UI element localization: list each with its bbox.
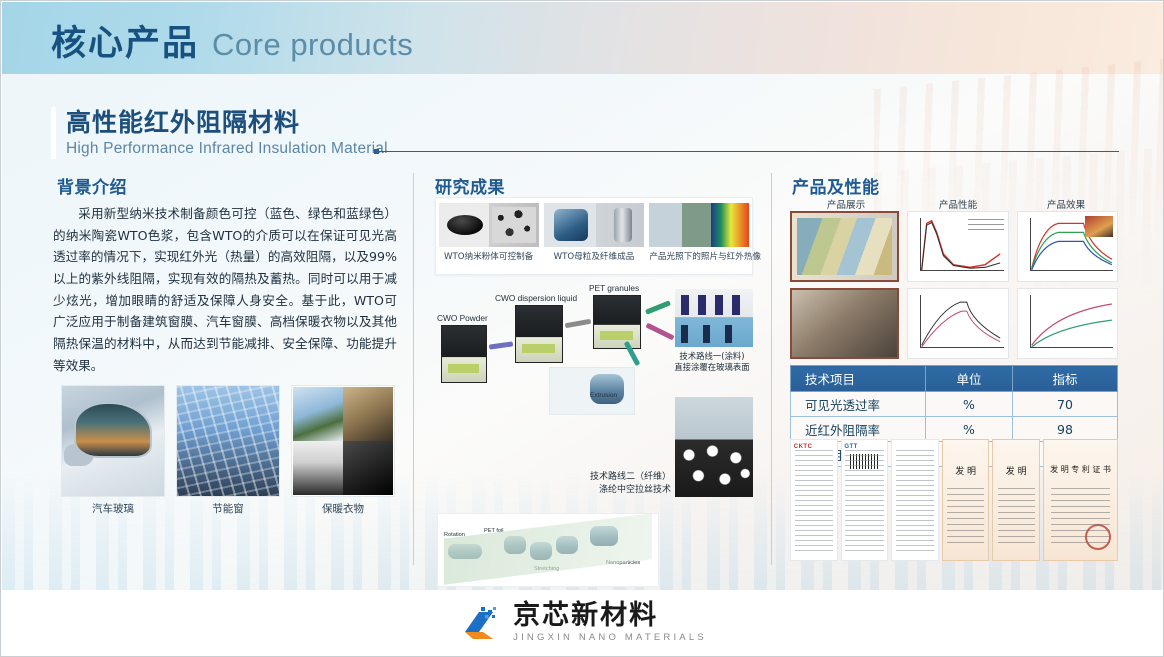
spec-cell-value: 98 [1013,417,1118,442]
route2-label-line2: 涤纶中空拉丝技术 [551,484,671,497]
route3-film-diagram: Rotation PET foil Stretching Nanoparticl… [437,513,659,587]
flow-arrow-2-icon [565,319,591,328]
research-item-caption: WTO纳米粉体可控制备 [439,250,539,262]
flow-label-granules: PET granules [589,283,639,293]
column-products: 产品及性能 产品展示 产品性能 产品效果 [786,173,1119,203]
hollow-fiber-image [675,397,753,497]
chart-curves [1030,295,1114,349]
wto-masterbatch-image [544,203,644,247]
patent-certificate-3: 发 明 专 利 证 书 [1043,439,1118,561]
spec-col-unit: 单位 [926,366,1013,392]
subhead-performance: 产品性能 [902,197,1014,211]
spec-cell-value: 70 [1013,392,1118,417]
page-title: 核心产品 Core products [51,15,413,66]
energy-window-image [176,385,280,497]
flow-label-powder: CWO Powder [437,313,488,323]
table-row: 近红外阻隔率 % 98 [791,417,1118,442]
film-roll-icon [556,536,578,554]
chart-curves [920,295,1004,349]
route1-label: 技术路线一(涂料) 直接涂覆在玻璃表面 [669,351,755,374]
process-flow-diagram: CWO Powder CWO dispersion liquid PET gra… [433,285,755,465]
patent-title: 发 明 专 利 证 书 [1044,464,1117,475]
column-divider-2 [771,173,772,565]
temp-curve-svg [920,295,1004,349]
application-photo-caption: 保暖衣物 [291,501,395,516]
pet-granules-photo [593,295,641,349]
application-photo-row: 汽车玻璃 节能窗 保暖衣物 [61,385,395,516]
film-roll-icon [504,536,526,554]
cwo-dispersion-photo [515,305,563,363]
flow-label-nanoparticles: Nanoparticles [606,560,640,566]
route1-label-line1: 技术路线一(涂料) [669,351,755,362]
official-seal-icon [1085,524,1111,550]
extrusion-photo: Extrusion [549,367,635,415]
extruder-roll-icon [590,374,624,404]
columns-container: 背景介绍 采用新型纳米技术制备颜色可控（蓝色、绿色和蓝绿色）的纳米陶瓷WTO色浆… [51,173,1119,568]
ski-photo-quadrant [293,387,343,441]
spec-col-item: 技术项目 [791,366,926,392]
irradiation-curve-svg [1030,295,1114,349]
gtt-logo-label: GTT [844,444,858,450]
spec-cell-unit: % [926,417,1013,442]
application-photo-caption: 汽车玻璃 [61,501,165,516]
barcode-icon [850,454,879,468]
temperature-curve-chart-image [907,288,1008,359]
insulation-effect-chart-image [1017,211,1118,282]
page-title-en: Core products [212,27,413,63]
brand-name-cn: 京芯新材料 [513,602,707,629]
cwo-powder-photo [441,325,487,383]
flow-arrow-1-icon [489,341,513,349]
spec-cell-item: 近红外阻隔率 [791,417,926,442]
column-background: 背景介绍 采用新型纳米技术制备颜色可控（蓝色、绿色和蓝绿色）的纳米陶瓷WTO色浆… [51,173,399,376]
wto-powder-image [439,203,539,247]
research-item-fiber: WTO母粒及纤维成品 [544,203,644,262]
patent-title: 发 明 [943,464,989,477]
flow-label-rotation: Rotation [444,532,465,538]
products-image-row [790,211,1118,359]
product-performance-group [907,211,1008,359]
research-item-caption: WTO母粒及纤维成品 [544,250,644,262]
section-accent-bar [51,107,56,159]
demo-room-image [790,288,899,359]
glass-swatches-image [790,211,899,282]
route1-photo-group [675,289,753,347]
spec-cell-unit: % [926,392,1013,417]
section-title-en: High Performance Infrared Insulation Mat… [66,140,388,158]
products-subheadings: 产品展示 产品性能 产品效果 [790,197,1118,211]
product-effect-group [1017,211,1118,359]
warm-clothing-image [291,385,395,497]
film-roll-icon [448,544,482,559]
research-heading: 研究成果 [435,173,759,198]
subhead-effect: 产品效果 [1014,197,1118,211]
application-photo-car: 汽车玻璃 [61,385,165,516]
table-row: 可见光透过率 % 70 [791,392,1118,417]
test-report-gtt: GTT [841,439,889,561]
test-report-cktc: CKTC [790,439,838,561]
slide: 核心产品 Core products 高性能红外阻隔材料 High Perfor… [0,0,1164,657]
company-logo-icon [459,606,503,640]
route2-label: 技术路线二（纤维） 涤纶中空拉丝技术 [551,471,671,496]
transmittance-chart-image [907,211,1008,282]
chart-legend [968,219,1004,234]
route2-label-line1: 技术路线二（纤维） [551,471,671,484]
patent-certificate-1: 发 明 [942,439,990,561]
patent-title: 发 明 [993,464,1039,477]
effect-inset-photo [1085,216,1113,237]
flow-label-dispersion: CWO dispersion liquid [495,293,577,303]
background-paragraph: 采用新型纳米技术制备颜色可控（蓝色、绿色和蓝绿色）的纳米陶瓷WTO色浆，包含WT… [53,203,397,376]
column-research: 研究成果 WTO纳米粉体可控制备 WTO母粒及纤维成品 产品光照下的照片与红外热… [429,173,759,203]
footer: 京芯新材料 JINGXIN NANO MATERIALS [2,590,1164,655]
patent-certificate-2: 发 明 [992,439,1040,561]
product-display-group [790,211,899,359]
section-heading: 高性能红外阻隔材料 High Performance Infrared Insu… [51,103,388,158]
film-roll-icon [530,542,552,560]
section-rule [379,151,1119,152]
gloves-photo-quadrant [343,441,393,495]
section-title-cn: 高性能红外阻隔材料 [66,103,388,139]
research-item-caption: 产品光照下的照片与红外热像 [649,250,749,262]
flow-label-pet-foil: PET foil [484,528,503,534]
spec-cell-item: 可见光透过率 [791,392,926,417]
flow-arrow-3-icon [645,300,671,314]
research-results-card: WTO纳米粉体可控制备 WTO母粒及纤维成品 产品光照下的照片与红外热像 [435,197,753,275]
company-brand: 京芯新材料 JINGXIN NANO MATERIALS [513,602,707,643]
irradiation-chart-image [1017,288,1118,359]
film-roll-icon [590,526,618,546]
infrared-thermal-image [649,203,749,247]
page-title-cn: 核心产品 [51,15,199,66]
column-divider-1 [413,173,414,565]
application-photo-caption: 节能窗 [176,501,280,516]
application-photo-apparel: 保暖衣物 [291,385,395,516]
legwarmer-photo-quadrant [293,441,343,495]
flow-label-stretching: Stretching [534,566,559,572]
products-heading: 产品及性能 [792,173,1119,198]
subhead-display: 产品展示 [790,197,902,211]
flow-arrow-4-icon [645,323,674,341]
logo-arrow-svg [459,606,503,640]
route2-photo-group [675,397,753,497]
certificates-row: CKTC GTT 发 明 发 明 发 明 专 利 证 书 [790,439,1118,561]
flow-label-extrusion: Extrusion [590,392,617,399]
jacket-photo-quadrant [343,387,393,441]
spec-table-header-row: 技术项目 单位 指标 [791,366,1118,392]
spec-col-value: 指标 [1013,366,1118,392]
research-item-powder: WTO纳米粉体可控制备 [439,203,539,262]
brand-name-en: JINGXIN NANO MATERIALS [513,632,707,643]
research-item-thermal: 产品光照下的照片与红外热像 [649,203,749,262]
route1-label-line2: 直接涂覆在玻璃表面 [669,362,755,373]
application-photo-building: 节能窗 [176,385,280,516]
test-report-third [891,439,939,561]
cktc-logo-label: CKTC [794,444,813,450]
coating-vials-image [675,289,753,347]
background-heading: 背景介绍 [57,173,399,198]
car-window-image [61,385,165,497]
